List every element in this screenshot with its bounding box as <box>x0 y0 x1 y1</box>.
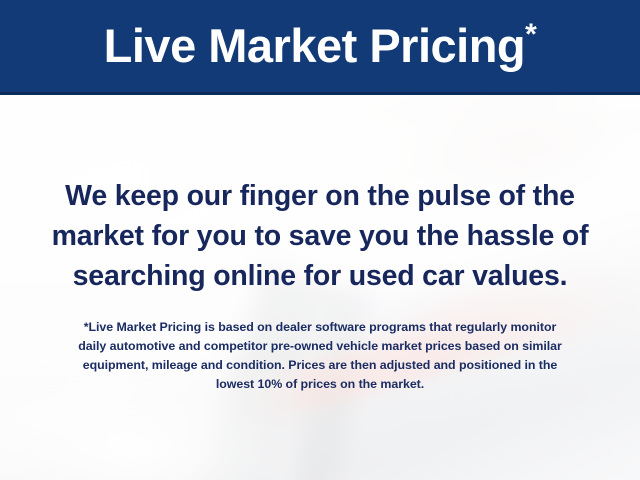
disclaimer-line-2: daily automotive and competitor pre-owne… <box>28 337 612 356</box>
disclaimer-line-1: *Live Market Pricing is based on dealer … <box>28 318 612 337</box>
headline: We keep our finger on the pulse of the m… <box>0 176 640 296</box>
page-title-text: Live Market Pricing <box>104 19 526 72</box>
headline-line-1: We keep our finger on the pulse of the <box>0 176 640 216</box>
headline-line-2: market for you to save you the hassle of <box>0 216 640 256</box>
header-band: Live Market Pricing* <box>0 0 640 95</box>
live-market-pricing-banner: Live Market Pricing* We keep our finger … <box>0 0 640 480</box>
disclaimer-line-4: lowest 10% of prices on the market. <box>28 375 612 394</box>
page-title-asterisk: * <box>525 18 536 51</box>
page-title: Live Market Pricing* <box>104 20 537 73</box>
disclaimer-line-3: equipment, mileage and condition. Prices… <box>28 356 612 375</box>
disclaimer-text: *Live Market Pricing is based on dealer … <box>28 318 612 394</box>
headline-line-3: searching online for used car values. <box>0 256 640 296</box>
